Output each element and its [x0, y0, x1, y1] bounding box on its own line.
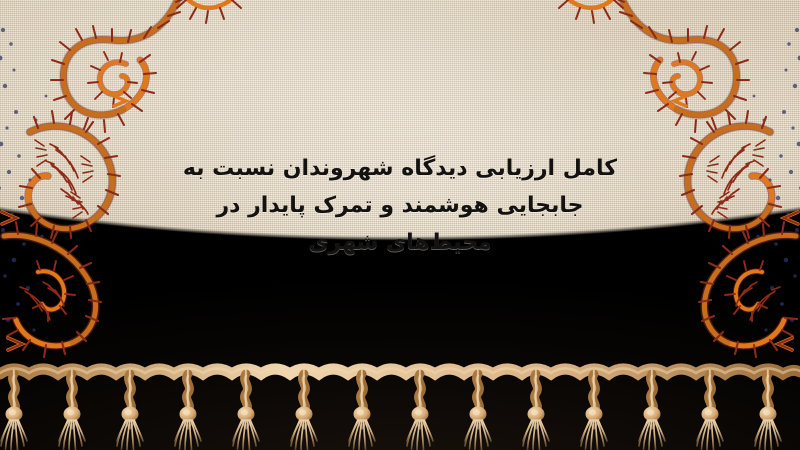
slide-canvas: کامل ارزیابی دیدگاه شهروندان نسبت به جاب… — [0, 0, 800, 450]
title-line-3: محیط‌های شهری — [150, 224, 650, 261]
title-line-1: کامل ارزیابی دیدگاه شهروندان نسبت به — [150, 150, 650, 187]
title-line-2: جابجایی هوشمند و تمرک پایدار در — [150, 187, 650, 224]
slide-title: کامل ارزیابی دیدگاه شهروندان نسبت به جاب… — [150, 150, 650, 261]
